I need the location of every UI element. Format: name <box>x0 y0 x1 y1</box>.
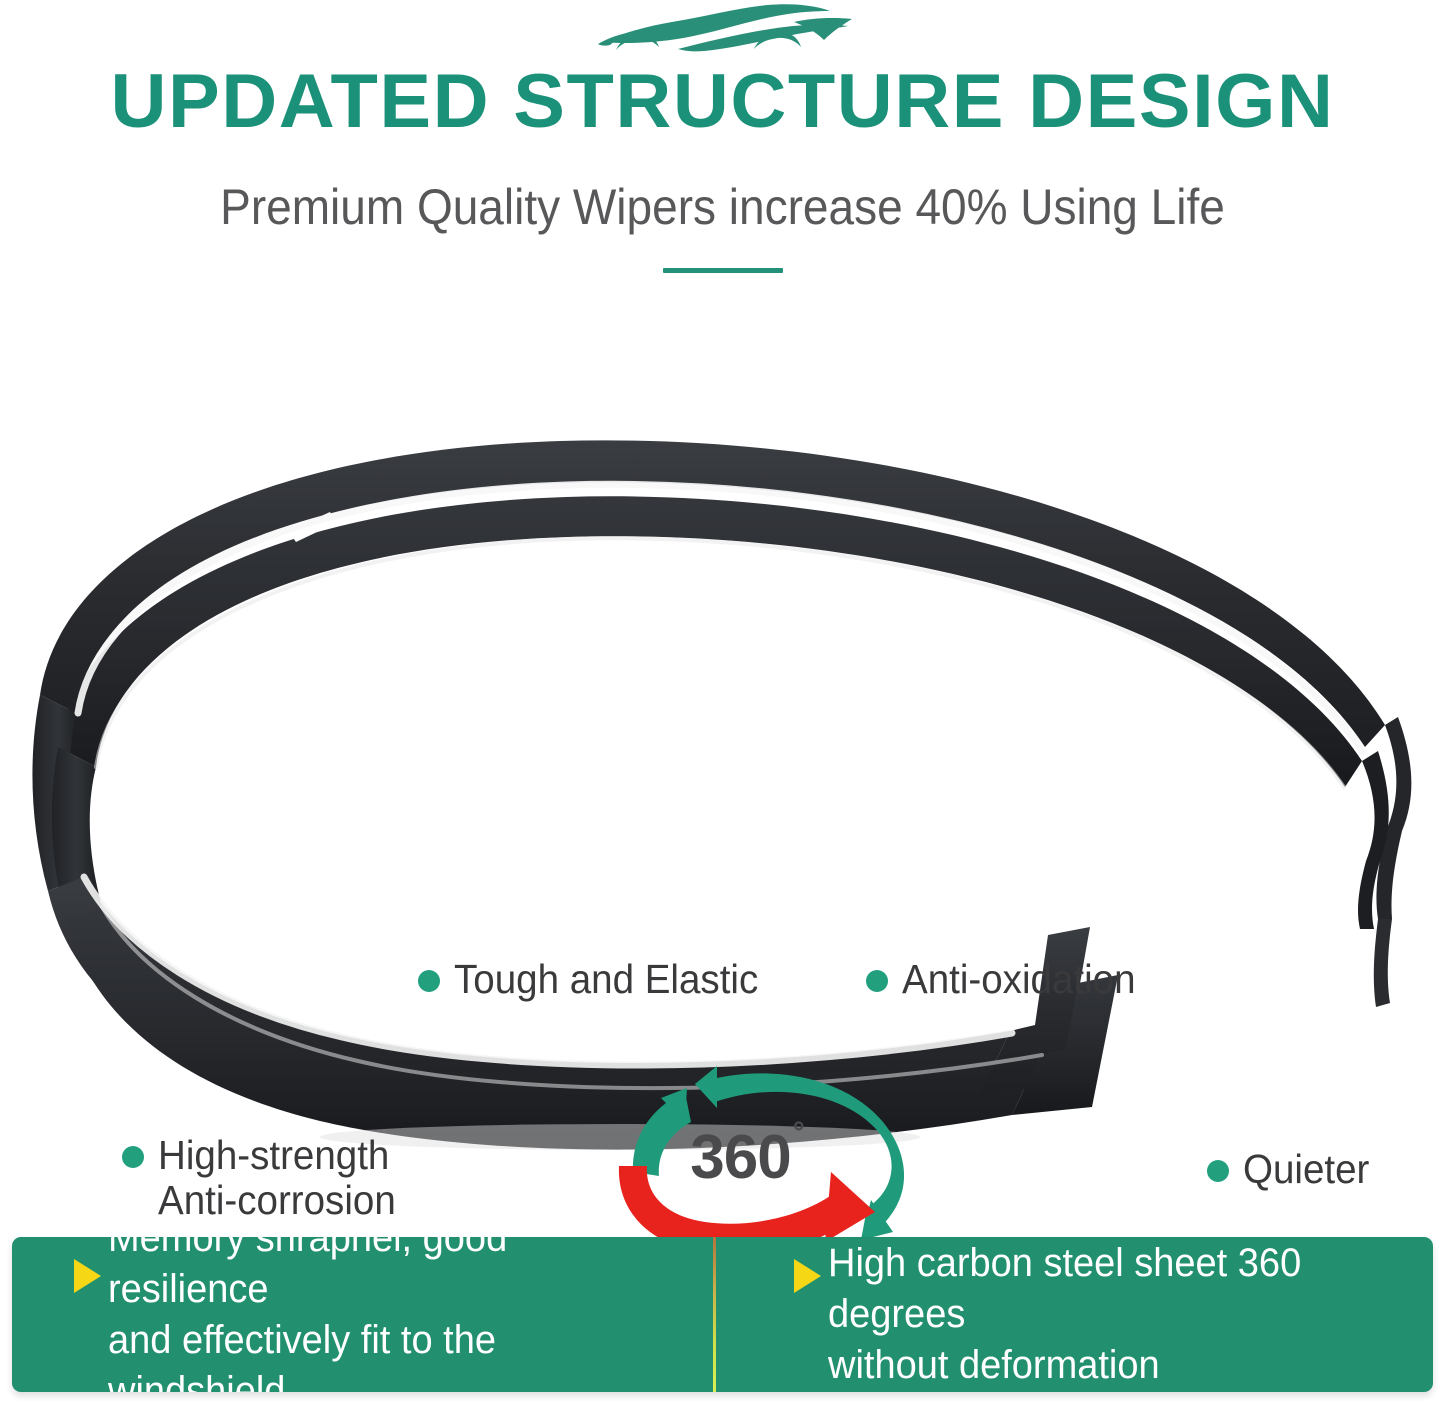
banner-left-text: Memory shrapnel, good resilience and eff… <box>108 1237 668 1392</box>
page-subtitle: Premium Quality Wipers increase 40% Usin… <box>58 178 1387 236</box>
bottom-feature-banner: Memory shrapnel, good resilience and eff… <box>12 1237 1433 1392</box>
feature-tough-and-elastic: Tough and Elastic <box>418 957 778 1002</box>
bullet-dot-icon <box>866 970 888 992</box>
triangle-bullet-icon <box>74 1259 101 1293</box>
bullet-dot-icon <box>1207 1160 1229 1182</box>
feature-label: Anti-oxidation <box>902 957 1136 1002</box>
wiper-steel-strip-illustration <box>0 395 1445 1155</box>
bullet-dot-icon <box>418 970 440 992</box>
rotation-arrows-icon <box>575 1060 920 1255</box>
badge-360-degree: 360 ° <box>575 1060 920 1255</box>
feature-label: High-strength Anti-corrosion <box>158 1133 396 1223</box>
page-title: UPDATED STRUCTURE DESIGN <box>0 62 1445 142</box>
product-image-area: Tough and Elastic Anti-oxidation High-st… <box>0 395 1445 1155</box>
feature-anti-oxidation: Anti-oxidation <box>866 957 1150 1002</box>
feature-label: Quieter <box>1243 1147 1369 1192</box>
banner-panel-right: High carbon steel sheet 360 degrees with… <box>716 1237 1433 1392</box>
car-silhouette-icon <box>586 2 876 60</box>
banner-panel-left: Memory shrapnel, good resilience and eff… <box>12 1237 713 1392</box>
banner-right-text: High carbon steel sheet 360 degrees with… <box>828 1238 1388 1391</box>
title-divider <box>663 268 783 273</box>
feature-quieter: Quieter <box>1207 1147 1377 1192</box>
header-section: UPDATED STRUCTURE DESIGN Premium Quality… <box>0 0 1445 300</box>
triangle-bullet-icon <box>794 1259 821 1293</box>
bullet-dot-icon <box>122 1146 144 1168</box>
feature-high-strength-anti-corrosion: High-strength Anti-corrosion <box>122 1133 411 1223</box>
feature-label: Tough and Elastic <box>454 957 758 1002</box>
